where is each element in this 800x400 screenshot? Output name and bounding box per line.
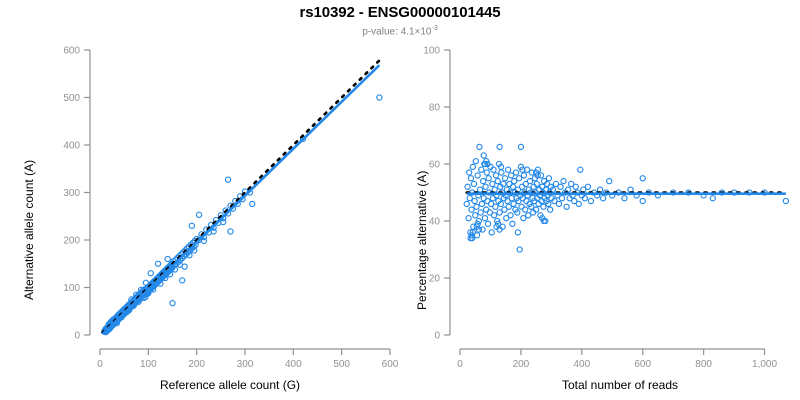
y-tick-label: 80 — [429, 103, 441, 114]
p-value-subtitle: p-value: 4.1×10-3 — [0, 25, 800, 37]
y-tick-label: 0 — [74, 331, 80, 342]
y-tick-label: 100 — [63, 283, 80, 294]
y-tick-label: 600 — [63, 46, 80, 57]
x-tick-label: 800 — [695, 359, 712, 368]
p-value-exponent: -3 — [431, 25, 437, 32]
y-tick-label: 500 — [63, 93, 80, 104]
reference-line — [102, 60, 379, 332]
y-tick-label: 200 — [63, 236, 80, 247]
x-tick-label: 400 — [573, 359, 590, 368]
panel-allele-counts: 01002003004005006000100200300400500600 — [0, 38, 400, 368]
x-tick-label: 300 — [237, 359, 254, 368]
x-tick-label: 600 — [382, 359, 399, 368]
data-point-group — [102, 95, 382, 335]
x-tick-label: 400 — [285, 359, 302, 368]
y-tick-label: 60 — [429, 160, 441, 171]
y-tick-label: 100 — [423, 46, 440, 57]
figure-canvas: rs10392 - ENSG00000101445 p-value: 4.1×1… — [0, 0, 800, 400]
y-axis-title-left: Alternative allele count (A) — [22, 160, 36, 300]
y-tick-label: 400 — [63, 141, 80, 152]
x-tick-label: 200 — [188, 359, 205, 368]
y-tick-label: 20 — [429, 274, 441, 285]
x-tick-label: 500 — [333, 359, 350, 368]
x-tick-label: 600 — [634, 359, 651, 368]
x-tick-label: 1,000 — [752, 359, 777, 368]
y-tick-label: 0 — [434, 331, 440, 342]
fit-line — [102, 65, 379, 334]
x-tick-label: 100 — [140, 359, 157, 368]
p-value-text: p-value: 4.1×10 — [362, 26, 431, 37]
y-tick-label: 300 — [63, 188, 80, 199]
x-axis-title-left: Reference allele count (G) — [60, 378, 400, 392]
scatter-plot-allele-counts: 01002003004005006000100200300400500600 — [0, 38, 400, 368]
x-axis-title-right: Total number of reads — [450, 378, 790, 392]
x-tick-label: 200 — [513, 359, 530, 368]
data-point-group — [464, 144, 788, 252]
panel-percentage-alternative: 02040608010002004006008001,000 — [400, 38, 800, 368]
page-title: rs10392 - ENSG00000101445 — [0, 4, 800, 21]
x-tick-label: 0 — [97, 359, 103, 368]
y-axis-title-right: Percentage alternative (A) — [415, 171, 429, 310]
x-tick-label: 0 — [457, 359, 463, 368]
scatter-plot-percentage-alternative: 02040608010002004006008001,000 — [400, 38, 800, 368]
y-tick-label: 40 — [429, 217, 441, 228]
